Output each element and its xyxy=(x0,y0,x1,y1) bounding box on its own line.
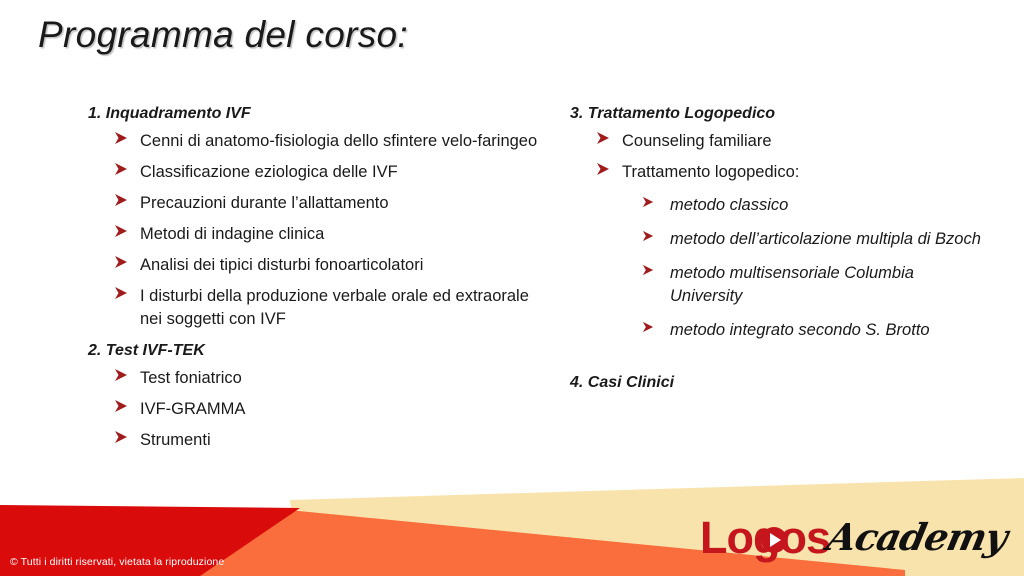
list-item-label: IVF-GRAMMA xyxy=(140,398,538,421)
list-item-label: Strumenti xyxy=(140,429,538,452)
section-1-bullet-list: Cenni di anatomo-fisiologia dello sfinte… xyxy=(88,130,538,331)
list-item: Precauzioni durante l’allattamento xyxy=(88,192,538,215)
sub-list-item: metodo integrato secondo S. Brotto xyxy=(570,319,990,342)
section-3-bullet-list: Counseling familiare Trattamento logoped… xyxy=(570,130,990,184)
arrow-bullet-icon xyxy=(114,193,130,211)
section-2-bullet-list: Test foniatrico IVF-GRAMMA Strumenti xyxy=(88,367,538,452)
section-3-sub-bullet-list: metodo classico metodo dell’articolazion… xyxy=(570,194,990,342)
arrow-bullet-icon xyxy=(114,430,130,448)
section-heading-1: 1. Inquadramento IVF xyxy=(88,104,538,124)
copyright-text: © Tutti i diritti riservati, vietata la … xyxy=(10,556,224,568)
page-title: Programma del corso: xyxy=(38,14,408,56)
logo-primary-text: Logos xyxy=(700,515,830,560)
list-item: Cenni di anatomo-fisiologia dello sfinte… xyxy=(88,130,538,153)
left-content-column: 1. Inquadramento IVF Cenni di anatomo-fi… xyxy=(88,104,538,462)
section-heading-4: 4. Casi Clinici xyxy=(570,373,990,393)
arrow-bullet-icon xyxy=(596,162,612,180)
list-item-label: Metodi di indagine clinica xyxy=(140,223,538,246)
arrow-bullet-icon xyxy=(114,399,130,417)
section-heading-2: 2. Test IVF-TEK xyxy=(88,341,538,361)
list-item: Strumenti xyxy=(88,429,538,452)
list-item: Classificazione eziologica delle IVF xyxy=(88,161,538,184)
sub-list-item-label: metodo multisensoriale Columbia Universi… xyxy=(670,262,990,308)
list-item-label: Classificazione eziologica delle IVF xyxy=(140,161,538,184)
list-item-label: Precauzioni durante l’allattamento xyxy=(140,192,538,215)
arrow-bullet-icon xyxy=(642,230,656,246)
list-item: Metodi di indagine clinica xyxy=(88,223,538,246)
section-heading-3: 3. Trattamento Logopedico xyxy=(570,104,990,124)
list-item: IVF-GRAMMA xyxy=(88,398,538,421)
list-item-label: Counseling familiare xyxy=(622,130,990,153)
list-item: Trattamento logopedico: xyxy=(570,161,990,184)
arrow-bullet-icon xyxy=(596,131,612,149)
arrow-bullet-icon xyxy=(642,264,656,280)
arrow-bullet-icon xyxy=(114,162,130,180)
arrow-bullet-icon xyxy=(114,286,130,304)
list-item-label: Test foniatrico xyxy=(140,367,538,390)
logo: Logos Academy xyxy=(700,508,1006,566)
list-item-label: I disturbi della produzione verbale oral… xyxy=(140,285,538,331)
sub-list-item: metodo multisensoriale Columbia Universi… xyxy=(570,262,990,308)
list-item: Counseling familiare xyxy=(570,130,990,153)
section-spacer xyxy=(570,353,990,373)
list-item-label: Trattamento logopedico: xyxy=(622,161,990,184)
list-item-label: Analisi dei tipici disturbi fonoarticola… xyxy=(140,254,538,277)
play-triangle-icon xyxy=(761,527,787,553)
arrow-bullet-icon xyxy=(114,131,130,149)
right-content-column: 3. Trattamento Logopedico Counseling fam… xyxy=(570,104,990,399)
sub-list-item-label: metodo classico xyxy=(670,194,990,217)
play-triangle-shape xyxy=(770,533,781,547)
logo-secondary-text: Academy xyxy=(824,517,1011,557)
sub-list-item-label: metodo integrato secondo S. Brotto xyxy=(670,319,990,342)
list-item: Test foniatrico xyxy=(88,367,538,390)
sub-list-item-label: metodo dell’articolazione multipla di Bz… xyxy=(670,228,990,251)
arrow-bullet-icon xyxy=(114,255,130,273)
list-item: I disturbi della produzione verbale oral… xyxy=(88,285,538,331)
arrow-bullet-icon xyxy=(114,368,130,386)
sub-list-item: metodo classico xyxy=(570,194,990,217)
arrow-bullet-icon xyxy=(642,321,656,337)
slide-canvas: Programma del corso: 1. Inquadramento IV… xyxy=(0,0,1024,576)
sub-list-item: metodo dell’articolazione multipla di Bz… xyxy=(570,228,990,251)
list-item: Analisi dei tipici disturbi fonoarticola… xyxy=(88,254,538,277)
arrow-bullet-icon xyxy=(642,196,656,212)
arrow-bullet-icon xyxy=(114,224,130,242)
list-item-label: Cenni di anatomo-fisiologia dello sfinte… xyxy=(140,130,538,153)
